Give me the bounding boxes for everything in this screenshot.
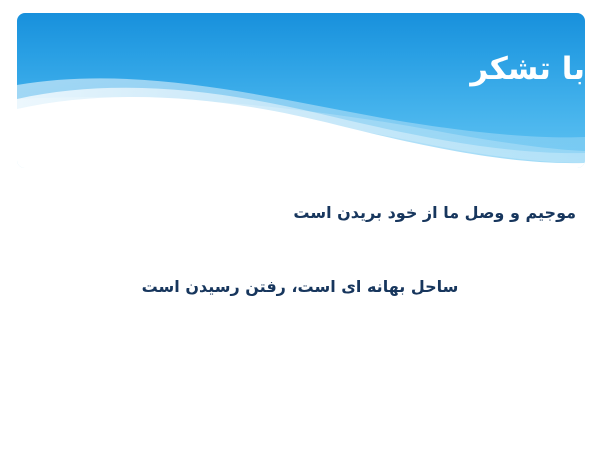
body-line-1: موجیم و وصل ما از خود بریدن است	[293, 202, 576, 224]
body-line-2: ساحل بهانه ای است، رفتن رسیدن است	[0, 276, 600, 298]
header-banner	[17, 13, 585, 168]
slide-canvas: با تشکر موجیم و وصل ما از خود بریدن است …	[0, 0, 600, 450]
banner-gradient-fill	[17, 13, 585, 168]
